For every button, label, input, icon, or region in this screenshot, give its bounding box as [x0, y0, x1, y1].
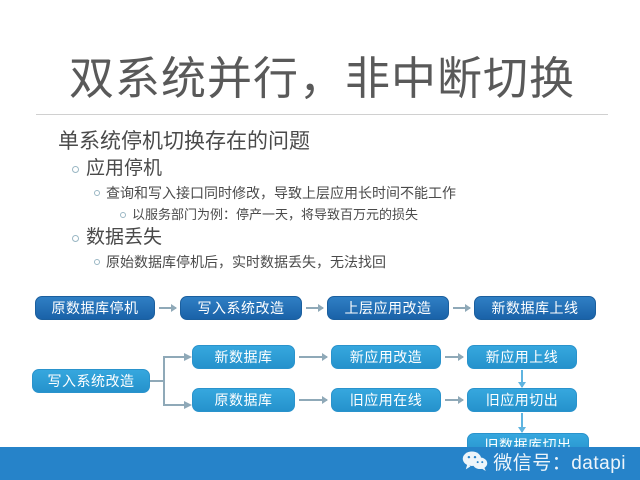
flow-arrow-right-icon: [445, 356, 463, 358]
flow-diagram-dual-system: 写入系统改造 新数据库 新应用改造 新应用上线 原数据库 旧应用在线 旧应用切出…: [0, 350, 640, 440]
flow-arrow-right-icon: [445, 399, 463, 401]
flow-diagram-single-system: 原数据库停机 写入系统改造 上层应用改造 新数据库上线: [0, 296, 640, 326]
list-item: 以服务部门为例：停产一天，将导致百万元的损失: [120, 204, 598, 225]
flow-arrow-down-icon: [521, 413, 523, 432]
list-item-label: 数据丢失: [86, 225, 162, 251]
list-item-label: 以服务部门为例：停产一天，将导致百万元的损失: [132, 204, 418, 225]
watermark-text: 微信号：datapi: [493, 448, 626, 475]
flow-node: 旧应用切出: [467, 388, 577, 412]
watermark: 微信号：datapi: [462, 446, 626, 476]
flow-arrow-right-icon: [159, 307, 176, 309]
slide-canvas: 双系统并行，非中断切换 单系统停机切换存在的问题 应用停机 查询和写入接口同时修…: [0, 0, 640, 480]
flow-node: 新应用上线: [467, 345, 577, 369]
flow-node: 新应用改造: [331, 345, 441, 369]
flow-node: 新数据库: [192, 345, 295, 369]
flow-arrow-right-icon: [306, 307, 323, 309]
outline-heading: 单系统停机切换存在的问题: [58, 128, 598, 156]
flow-node-source: 写入系统改造: [32, 369, 150, 393]
title-divider: [36, 114, 608, 115]
flow-arrow-right-icon: [299, 399, 327, 401]
flow-node: 上层应用改造: [327, 296, 449, 320]
hollow-circle-bullet-icon: [72, 166, 79, 173]
hollow-circle-bullet-icon: [94, 190, 100, 196]
list-item-label: 应用停机: [86, 156, 162, 182]
list-item: 应用停机: [72, 156, 598, 182]
flow-arrow-right-icon: [299, 356, 327, 358]
flow-node: 旧应用在线: [331, 388, 441, 412]
flow-node: 原数据库停机: [35, 296, 155, 320]
hollow-circle-bullet-icon: [94, 259, 100, 265]
title-block: 双系统并行，非中断切换: [36, 52, 608, 115]
list-item: 原始数据库停机后，实时数据丢失，无法找回: [94, 251, 598, 273]
flow-node: 新数据库上线: [474, 296, 596, 320]
hollow-circle-bullet-icon: [72, 235, 79, 242]
flow-node: 写入系统改造: [180, 296, 302, 320]
list-item: 查询和写入接口同时修改，导致上层应用长时间不能工作: [94, 182, 598, 204]
flow-node: 原数据库: [192, 388, 295, 412]
list-item-label: 原始数据库停机后，实时数据丢失，无法找回: [106, 251, 386, 273]
page-title: 双系统并行，非中断切换: [36, 52, 608, 110]
list-item-label: 查询和写入接口同时修改，导致上层应用长时间不能工作: [106, 182, 456, 204]
outline-list: 单系统停机切换存在的问题 应用停机 查询和写入接口同时修改，导致上层应用长时间不…: [58, 128, 598, 273]
wechat-icon: [462, 450, 488, 472]
flow-arrow-right-icon: [453, 307, 470, 309]
list-item: 数据丢失: [72, 225, 598, 251]
hollow-circle-bullet-icon: [120, 212, 126, 218]
flow-arrow-down-icon: [521, 370, 523, 387]
